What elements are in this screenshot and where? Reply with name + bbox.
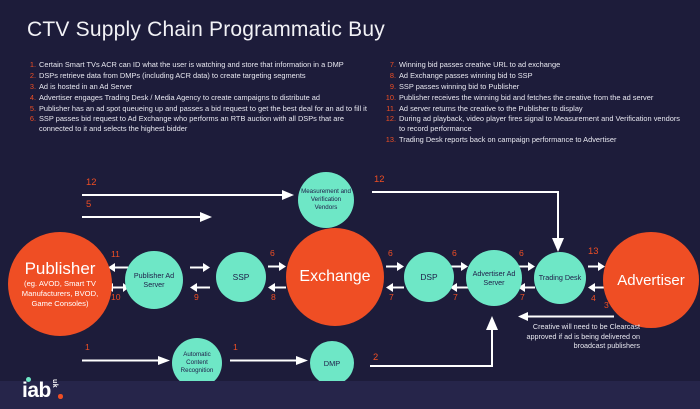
step-text: Publisher has an ad spot queueing up and…: [39, 104, 375, 114]
step-number: 4.: [25, 93, 36, 103]
step-number: 1.: [25, 60, 36, 70]
step-label-4: 4: [591, 294, 596, 303]
iab-uk-logo: iab uk: [22, 378, 96, 406]
list-item: 3. Ad is hosted in an Ad Server: [25, 82, 375, 92]
list-item: 2. DSPs retrieve data from DMPs (includi…: [25, 71, 375, 81]
list-item: 9. SSP passes winning bid to Publisher: [385, 82, 685, 92]
arrow-12-to-measurement: [82, 190, 296, 200]
step-label-11: 11: [111, 250, 120, 259]
step-label-1-right: 1: [233, 343, 238, 352]
step-text: SSP passes bid request to Ad Exchange wh…: [39, 114, 375, 133]
step-number: 9.: [385, 82, 396, 92]
arrow-6-ssp-to-exchange: [268, 262, 286, 271]
node-measurement-verification-vendors[interactable]: Measurement and Verification Vendors: [298, 172, 354, 228]
node-exchange-label: Exchange: [299, 268, 370, 286]
node-advertiser-ad-server[interactable]: Advertiser Ad Server: [466, 250, 522, 306]
list-item: 5. Publisher has an ad spot queueing up …: [25, 104, 375, 114]
arrow-5-bid-request: [82, 212, 214, 222]
logo-orange-dot-icon: [58, 394, 63, 399]
diagram-canvas: CTV Supply Chain Programmatic Buy 1. Cer…: [0, 0, 700, 409]
list-item: 6. SSP passes bid request to Ad Exchange…: [25, 114, 375, 133]
list-item: 10. Publisher receives the winning bid a…: [385, 93, 685, 103]
arrow-1-to-dmp: [230, 356, 308, 365]
steps-list-right: 7. Winning bid passes creative URL to ad…: [385, 60, 685, 146]
arrow-13-to-advertiser: [588, 262, 605, 271]
node-dsp-label: DSP: [420, 272, 437, 282]
step-text: Trading Desk reports back on campaign pe…: [399, 135, 685, 145]
node-dmp-label: DMP: [324, 359, 340, 368]
footer-bar: [0, 381, 700, 409]
list-item: 12. During ad playback, video player fir…: [385, 114, 685, 133]
list-item: 7. Winning bid passes creative URL to ad…: [385, 60, 685, 70]
step-number: 10.: [385, 93, 396, 103]
list-item: 13. Trading Desk reports back on campaig…: [385, 135, 685, 145]
node-advertiser-label: Advertiser: [617, 272, 685, 289]
step-label-7-advadserver: 7: [453, 293, 458, 302]
step-text: SSP passes winning bid to Publisher: [399, 82, 685, 92]
step-label-6-dsp: 6: [388, 249, 393, 258]
arrow-12-to-trading-desk: [372, 186, 572, 254]
logo-wordmark: iab: [22, 380, 51, 401]
arrow-7-dsp-to-exchange: [386, 283, 404, 292]
node-trading-desk-label: Trading Desk: [539, 273, 581, 283]
arrow-1-to-acr: [82, 356, 170, 365]
node-ssp[interactable]: SSP: [216, 252, 266, 302]
step-text: During ad playback, video player fires s…: [399, 114, 685, 133]
step-label-2: 2: [373, 352, 378, 361]
step-text: Publisher receives the winning bid and f…: [399, 93, 685, 103]
step-text: Ad is hosted in an Ad Server: [39, 82, 375, 92]
list-item: 11. Ad server returns the creative to th…: [385, 104, 685, 114]
arrow-pubadserver-to-ssp: [190, 263, 210, 272]
list-item: 1. Certain Smart TVs ACR can ID what the…: [25, 60, 375, 70]
arrow-8-exchange-to-ssp: [268, 283, 286, 292]
node-publisher-sublabel: (eg. AVOD, Smart TV Manufacturers, BVOD,…: [8, 279, 112, 309]
list-item: 4. Advertiser engages Trading Desk / Med…: [25, 93, 375, 103]
step-number: 8.: [385, 71, 396, 81]
step-text: Ad server returns the creative to the Pu…: [399, 104, 685, 114]
node-acr-label: Automatic Content Recognition: [172, 351, 222, 376]
node-dsp[interactable]: DSP: [404, 252, 454, 302]
step-text: Advertiser engages Trading Desk / Media …: [39, 93, 375, 103]
step-number: 2.: [25, 71, 36, 81]
step-number: 11.: [385, 104, 396, 114]
step-label-12-left: 12: [86, 177, 96, 186]
node-trading-desk[interactable]: Trading Desk: [534, 252, 586, 304]
node-publisher-label: Publisher: [25, 259, 96, 278]
logo-region-label: uk: [51, 379, 58, 388]
step-number: 5.: [25, 104, 36, 114]
clearcast-note: Creative will need to be Clearcast appro…: [512, 322, 640, 351]
node-advertiser-ad-server-label: Advertiser Ad Server: [466, 269, 522, 288]
list-item: 8. Ad Exchange passes winning bid to SSP: [385, 71, 685, 81]
step-label-9: 9: [194, 293, 199, 302]
node-dmp[interactable]: DMP: [310, 341, 354, 385]
node-exchange[interactable]: Exchange: [286, 228, 384, 326]
step-label-12-right: 12: [374, 174, 384, 183]
node-publisher-ad-server-label: Publisher Ad Server: [125, 271, 183, 290]
step-label-7-dsp: 7: [389, 293, 394, 302]
steps-list-left: 1. Certain Smart TVs ACR can ID what the…: [25, 60, 375, 135]
step-number: 13.: [385, 135, 396, 145]
step-text: DSPs retrieve data from DMPs (including …: [39, 71, 375, 81]
step-text: Certain Smart TVs ACR can ID what the us…: [39, 60, 375, 70]
step-label-7-tradingdesk: 7: [520, 293, 525, 302]
arrow-3-creative: [518, 312, 614, 321]
step-number: 3.: [25, 82, 36, 92]
step-number: 7.: [385, 60, 396, 70]
step-label-8: 8: [271, 293, 276, 302]
node-publisher[interactable]: Publisher (eg. AVOD, Smart TV Manufactur…: [8, 232, 112, 336]
step-number: 12.: [385, 114, 396, 124]
arrow-6-exchange-to-dsp: [386, 262, 404, 271]
node-publisher-ad-server[interactable]: Publisher Ad Server: [125, 251, 183, 309]
step-label-6-tradingdesk: 6: [519, 249, 524, 258]
arrow-9-leftward: [190, 283, 210, 292]
step-text: Ad Exchange passes winning bid to SSP: [399, 71, 685, 81]
step-label-1-left: 1: [85, 343, 90, 352]
step-number: 6.: [25, 114, 36, 124]
step-label-13: 13: [588, 246, 598, 255]
node-advertiser[interactable]: Advertiser: [603, 232, 699, 328]
step-label-10: 10: [111, 293, 121, 302]
step-label-5: 5: [86, 199, 91, 208]
step-label-6-ssp: 6: [270, 249, 275, 258]
arrow-2-dmp-to-dsp: [370, 316, 502, 372]
step-label-6-advadserver: 6: [452, 249, 457, 258]
step-text: Winning bid passes creative URL to ad ex…: [399, 60, 685, 70]
node-measurement-label: Measurement and Verification Vendors: [298, 188, 354, 213]
page-title: CTV Supply Chain Programmatic Buy: [27, 18, 385, 42]
node-ssp-label: SSP: [233, 272, 250, 282]
